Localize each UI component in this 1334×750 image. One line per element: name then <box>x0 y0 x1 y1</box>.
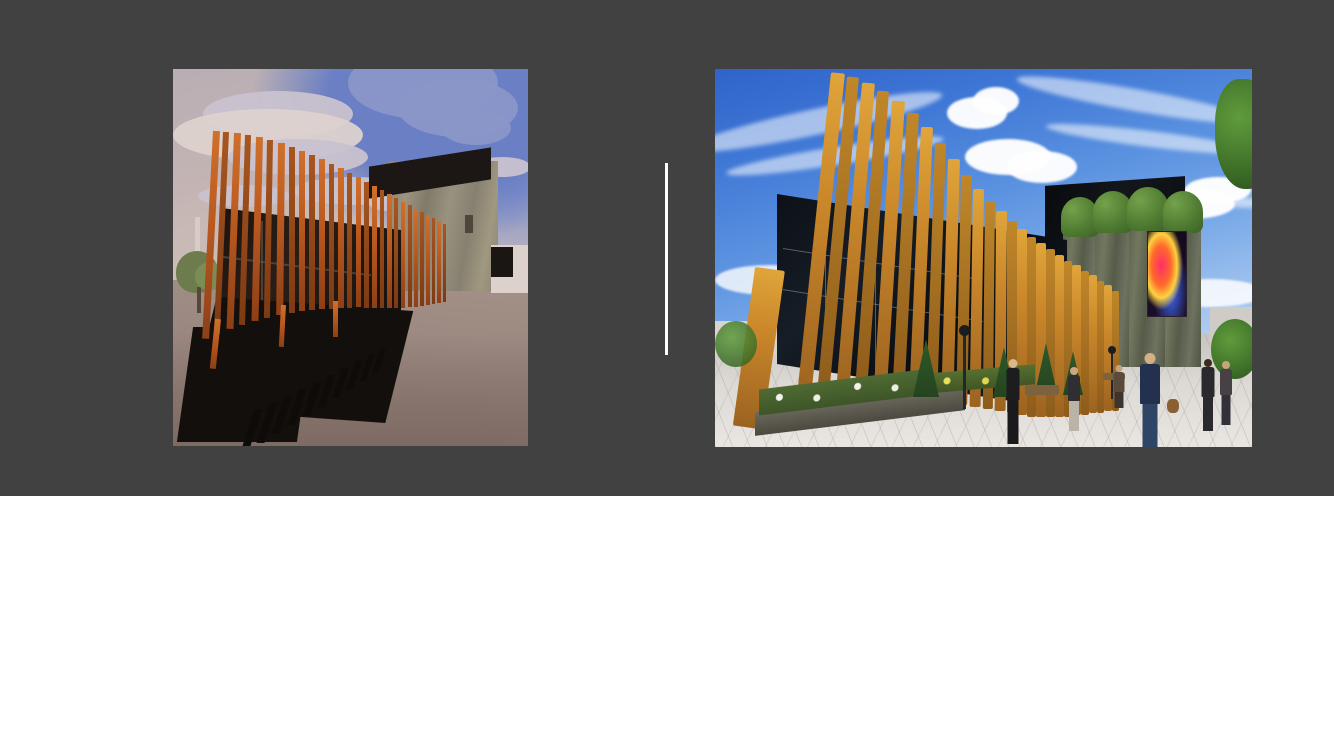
pedestrian-legs <box>1115 392 1124 408</box>
cumulus-cloud <box>1007 151 1077 183</box>
pedestrian-legs <box>1221 395 1230 425</box>
clay-wood-fin <box>420 212 424 306</box>
clay-wood-fin <box>329 164 334 309</box>
clay-wood-fin <box>387 194 392 308</box>
cumulus-cloud <box>973 87 1019 115</box>
pedestrian-torso <box>1007 368 1020 400</box>
bottom-white-band: SITUATION & RENDERS – SITE MODEL ARCHITE… <box>0 496 1334 750</box>
vertical-divider-line <box>665 163 668 355</box>
clay-wood-fin <box>364 182 369 308</box>
photorealistic-exterior-render[interactable] <box>715 69 1252 447</box>
clay-wood-fin <box>347 173 352 308</box>
clay-wood-fin <box>380 190 384 308</box>
lamp-head <box>1108 346 1116 354</box>
led-media-screen <box>1147 231 1187 317</box>
pedestrian <box>1201 359 1215 431</box>
pedestrian <box>1067 367 1081 433</box>
pedestrian <box>1113 365 1125 409</box>
clay-dark-opening <box>491 247 513 277</box>
pedestrian-torso <box>1068 375 1080 401</box>
pedestrian <box>1139 353 1161 447</box>
clay-wood-fin <box>443 224 446 302</box>
lamp-post <box>963 331 966 409</box>
wood-fin <box>1089 275 1097 413</box>
pedestrian-torso <box>1140 364 1160 404</box>
pedestrian-legs <box>1143 404 1158 447</box>
clay-wood-fin <box>408 205 412 307</box>
clay-facade-sign <box>465 215 473 233</box>
street-tree <box>715 321 757 367</box>
clay-wood-fin <box>426 215 430 305</box>
clay-wood-fin <box>356 177 361 307</box>
clay-wood-fin <box>338 168 344 308</box>
pedestrian-head <box>1222 361 1230 369</box>
clay-wood-fin <box>372 186 377 308</box>
dog <box>1167 399 1179 413</box>
pedestrian-torso <box>1202 367 1215 397</box>
clay-wood-fin <box>437 221 441 303</box>
clay-wood-fin <box>401 202 405 308</box>
clay-wood-fin <box>289 147 295 313</box>
clay-wood-fin <box>319 159 325 309</box>
pedestrian <box>1005 359 1021 447</box>
pedestrian-head <box>1145 353 1156 364</box>
pedestrian-legs <box>1069 401 1079 431</box>
pedestrian <box>1219 361 1232 427</box>
pedestrian-torso <box>1220 369 1232 395</box>
clay-cloud <box>441 111 511 145</box>
pedestrian-head <box>1116 365 1123 372</box>
pedestrian-legs <box>1203 397 1213 431</box>
pedestrian-torso <box>1114 372 1125 392</box>
wood-fin <box>1097 281 1104 413</box>
clay-wood-fin <box>299 151 305 311</box>
clay-wood-fin <box>309 155 315 310</box>
clay-wood-fin <box>414 209 418 307</box>
presentation-slide: SITUATION & RENDERS – SITE MODEL ARCHITE… <box>0 0 1334 750</box>
pedestrian-head <box>1070 367 1078 375</box>
pedestrian-legs <box>1008 400 1019 444</box>
pedestrian-head <box>1009 359 1018 368</box>
clay-wood-fin <box>432 218 435 304</box>
site-model-clay-render[interactable] <box>173 69 528 446</box>
clay-tree-trunk <box>197 287 201 313</box>
lamp-head <box>959 325 970 336</box>
park-bench <box>1025 385 1059 395</box>
silo-green-planting <box>1163 191 1203 233</box>
pedestrian-head <box>1204 359 1212 367</box>
clay-wood-fin-tail <box>333 301 338 337</box>
clay-wood-fin <box>394 198 398 308</box>
